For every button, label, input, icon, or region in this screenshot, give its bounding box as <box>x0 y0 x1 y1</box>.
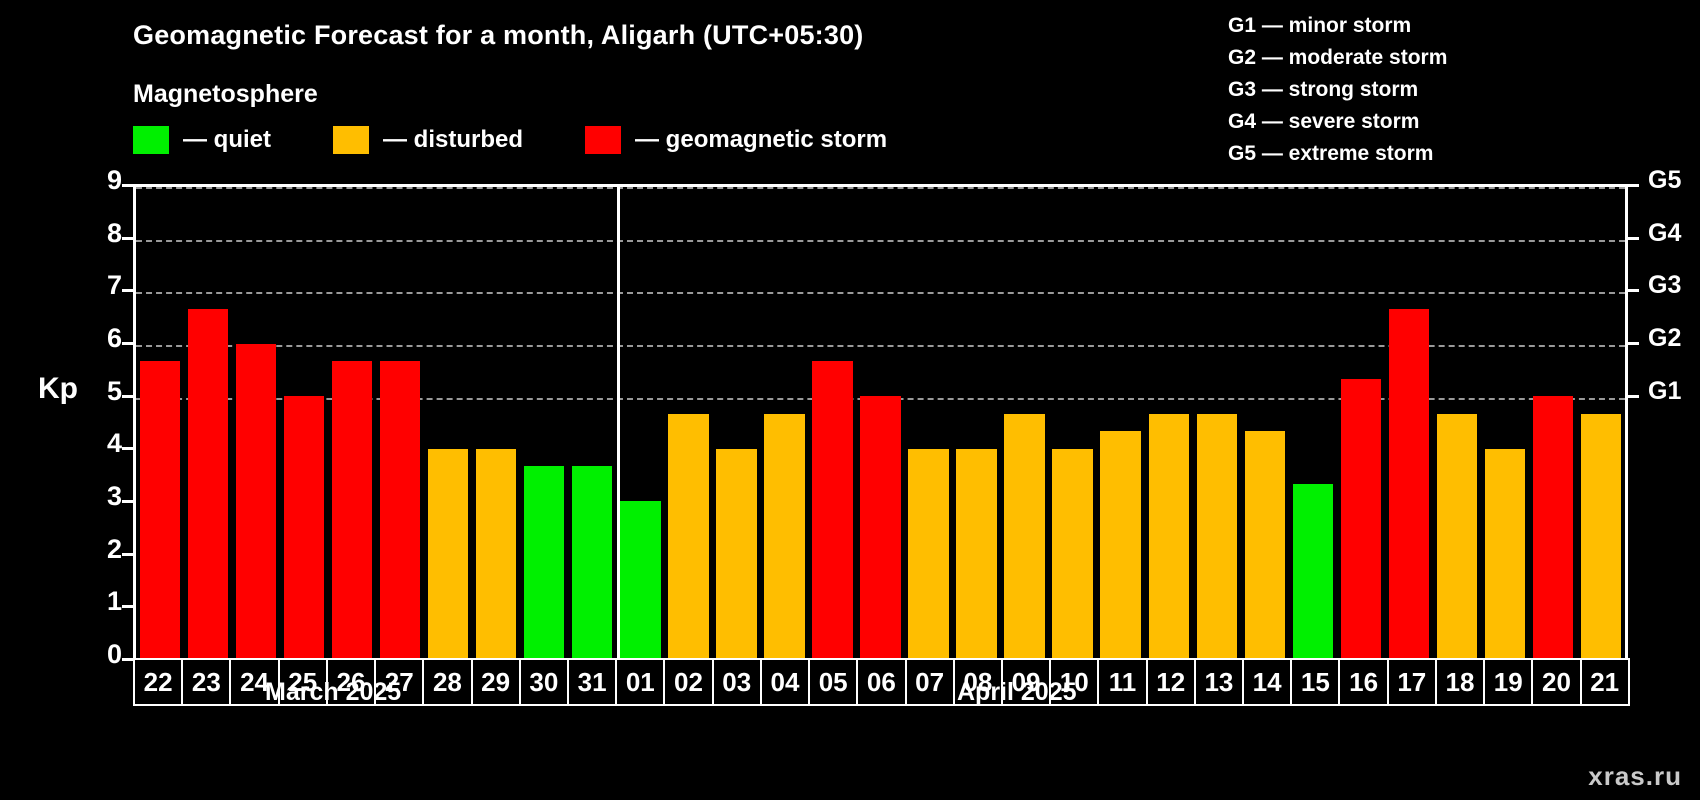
y-tick-mark-6 <box>122 342 133 345</box>
g-axis-tick-G3 <box>1628 289 1639 292</box>
legend-label-quiet: — quiet <box>183 126 271 154</box>
y-tick-label-1: 1 <box>78 586 122 617</box>
bar-30[interactable] <box>524 466 564 658</box>
bar-10[interactable] <box>1052 449 1092 658</box>
bar-24[interactable] <box>236 344 276 658</box>
bar-16[interactable] <box>1341 379 1381 658</box>
bar-cell-05[interactable] <box>808 187 856 658</box>
day-label-13: 13 <box>1194 658 1244 706</box>
bar-cell-14[interactable] <box>1241 187 1289 658</box>
y-tick-label-8: 8 <box>78 218 122 249</box>
plot-inner <box>136 187 1625 658</box>
bar-cell-23[interactable] <box>184 187 232 658</box>
g-scale-row-4: G4 — severe storm <box>1228 106 1447 138</box>
day-label-03: 03 <box>712 658 762 706</box>
y-tick-label-3: 3 <box>78 481 122 512</box>
bar-02[interactable] <box>668 414 708 658</box>
bar-cell-13[interactable] <box>1193 187 1241 658</box>
watermark: xras.ru <box>1588 761 1682 792</box>
bar-08[interactable] <box>956 449 996 658</box>
y-tick-label-2: 2 <box>78 534 122 565</box>
bar-cell-21[interactable] <box>1577 187 1625 658</box>
y-tick-mark-1 <box>122 605 133 608</box>
legend-swatch-disturbed <box>333 126 369 154</box>
g-scale-row-3: G3 — strong storm <box>1228 74 1447 106</box>
bar-cell-07[interactable] <box>905 187 953 658</box>
g-axis-label-G3: G3 <box>1648 271 1681 300</box>
bar-31[interactable] <box>572 466 612 658</box>
day-label-05: 05 <box>808 658 858 706</box>
day-label-23: 23 <box>181 658 231 706</box>
month-divider <box>617 187 620 658</box>
bar-20[interactable] <box>1533 396 1573 658</box>
bar-11[interactable] <box>1100 431 1140 658</box>
day-label-01: 01 <box>615 658 665 706</box>
g-scale-row-5: G5 — extreme storm <box>1228 138 1447 170</box>
bar-13[interactable] <box>1197 414 1237 658</box>
bar-cell-12[interactable] <box>1145 187 1193 658</box>
legend-swatch-quiet <box>133 126 169 154</box>
day-label-20: 20 <box>1531 658 1581 706</box>
day-label-11: 11 <box>1097 658 1147 706</box>
page-title: Geomagnetic Forecast for a month, Aligar… <box>133 20 864 51</box>
day-label-22: 22 <box>133 658 183 706</box>
bar-28[interactable] <box>428 449 468 658</box>
day-label-18: 18 <box>1435 658 1485 706</box>
bar-15[interactable] <box>1293 484 1333 658</box>
day-label-04: 04 <box>760 658 810 706</box>
bar-29[interactable] <box>476 449 516 658</box>
bar-19[interactable] <box>1485 449 1525 658</box>
g-scale-row-1: G1 — minor storm <box>1228 10 1447 42</box>
y-tick-mark-7 <box>122 289 133 292</box>
g-axis-tick-G1 <box>1628 395 1639 398</box>
day-label-07: 07 <box>905 658 955 706</box>
y-tick-label-7: 7 <box>78 270 122 301</box>
day-label-31: 31 <box>567 658 617 706</box>
bar-cell-29[interactable] <box>472 187 520 658</box>
bar-cell-20[interactable] <box>1529 187 1577 658</box>
month-label-april: April 2025 <box>957 678 1077 707</box>
y-tick-label-4: 4 <box>78 428 122 459</box>
legend-swatch-storm <box>585 126 621 154</box>
bar-cell-11[interactable] <box>1097 187 1145 658</box>
bar-cell-22[interactable] <box>136 187 184 658</box>
bar-21[interactable] <box>1581 414 1621 658</box>
bar-22[interactable] <box>140 361 180 658</box>
g-axis-tick-G4 <box>1628 237 1639 240</box>
day-label-14: 14 <box>1242 658 1292 706</box>
bar-cell-02[interactable] <box>664 187 712 658</box>
bar-18[interactable] <box>1437 414 1477 658</box>
y-tick-mark-5 <box>122 395 133 398</box>
day-label-06: 06 <box>856 658 906 706</box>
y-tick-label-6: 6 <box>78 323 122 354</box>
bar-14[interactable] <box>1245 431 1285 658</box>
day-label-19: 19 <box>1483 658 1533 706</box>
legend-label-disturbed: — disturbed <box>383 126 523 154</box>
day-label-12: 12 <box>1146 658 1196 706</box>
legend-item-storm: — geomagnetic storm <box>585 126 887 154</box>
bar-cell-08[interactable] <box>953 187 1001 658</box>
legend-item-disturbed: — disturbed <box>333 126 523 154</box>
day-label-17: 17 <box>1387 658 1437 706</box>
y-tick-mark-2 <box>122 553 133 556</box>
bar-27[interactable] <box>380 361 420 658</box>
bar-cell-30[interactable] <box>520 187 568 658</box>
bar-03[interactable] <box>716 449 756 658</box>
bar-09[interactable] <box>1004 414 1044 658</box>
bar-06[interactable] <box>860 396 900 658</box>
g-axis-label-G1: G1 <box>1648 377 1681 406</box>
bar-cell-09[interactable] <box>1001 187 1049 658</box>
y-axis-label: Kp <box>38 372 78 406</box>
y-tick-label-9: 9 <box>78 165 122 196</box>
chart-page: Geomagnetic Forecast for a month, Aligar… <box>0 0 1700 800</box>
chart-plot-area <box>133 184 1628 658</box>
day-label-28: 28 <box>422 658 472 706</box>
bar-cell-19[interactable] <box>1481 187 1529 658</box>
y-tick-mark-8 <box>122 237 133 240</box>
y-tick-mark-9 <box>122 184 133 187</box>
bar-cell-01[interactable] <box>616 187 664 658</box>
bar-cell-06[interactable] <box>856 187 904 658</box>
y-tick-mark-0 <box>122 658 133 661</box>
bar-cell-17[interactable] <box>1385 187 1433 658</box>
bar-cell-26[interactable] <box>328 187 376 658</box>
bar-23[interactable] <box>188 309 228 658</box>
bar-26[interactable] <box>332 361 372 658</box>
bar-12[interactable] <box>1149 414 1189 658</box>
y-tick-label-0: 0 <box>78 639 122 670</box>
bar-01[interactable] <box>620 501 660 658</box>
g-axis-tick-G2 <box>1628 342 1639 345</box>
day-label-15: 15 <box>1290 658 1340 706</box>
day-label-16: 16 <box>1338 658 1388 706</box>
bar-series <box>136 187 1625 658</box>
magnetosphere-heading: Magnetosphere <box>133 80 318 109</box>
y-tick-mark-4 <box>122 447 133 450</box>
month-label-march: March 2025 <box>265 678 401 707</box>
bar-cell-15[interactable] <box>1289 187 1337 658</box>
bar-07[interactable] <box>908 449 948 658</box>
y-tick-mark-3 <box>122 500 133 503</box>
day-label-02: 02 <box>663 658 713 706</box>
bar-cell-04[interactable] <box>760 187 808 658</box>
bar-cell-16[interactable] <box>1337 187 1385 658</box>
g-axis-tick-G5 <box>1628 184 1639 187</box>
day-label-21: 21 <box>1580 658 1630 706</box>
bar-05[interactable] <box>812 361 852 658</box>
bar-cell-10[interactable] <box>1049 187 1097 658</box>
legend-item-quiet: — quiet <box>133 126 271 154</box>
g-scale-legend: G1 — minor stormG2 — moderate stormG3 — … <box>1228 10 1447 170</box>
bar-cell-25[interactable] <box>280 187 328 658</box>
bar-cell-27[interactable] <box>376 187 424 658</box>
g-axis-label-G2: G2 <box>1648 324 1681 353</box>
bar-17[interactable] <box>1389 309 1429 658</box>
bar-cell-28[interactable] <box>424 187 472 658</box>
bar-04[interactable] <box>764 414 804 658</box>
bar-25[interactable] <box>284 396 324 658</box>
g-scale-row-2: G2 — moderate storm <box>1228 42 1447 74</box>
legend: — quiet— disturbed— geomagnetic storm <box>133 126 949 154</box>
day-label-29: 29 <box>471 658 521 706</box>
y-tick-label-5: 5 <box>78 376 122 407</box>
bar-cell-03[interactable] <box>712 187 760 658</box>
bar-cell-31[interactable] <box>568 187 616 658</box>
bar-cell-18[interactable] <box>1433 187 1481 658</box>
g-axis-label-G5: G5 <box>1648 166 1681 195</box>
legend-label-storm: — geomagnetic storm <box>635 126 887 154</box>
g-axis-label-G4: G4 <box>1648 219 1681 248</box>
day-label-30: 30 <box>519 658 569 706</box>
bar-cell-24[interactable] <box>232 187 280 658</box>
